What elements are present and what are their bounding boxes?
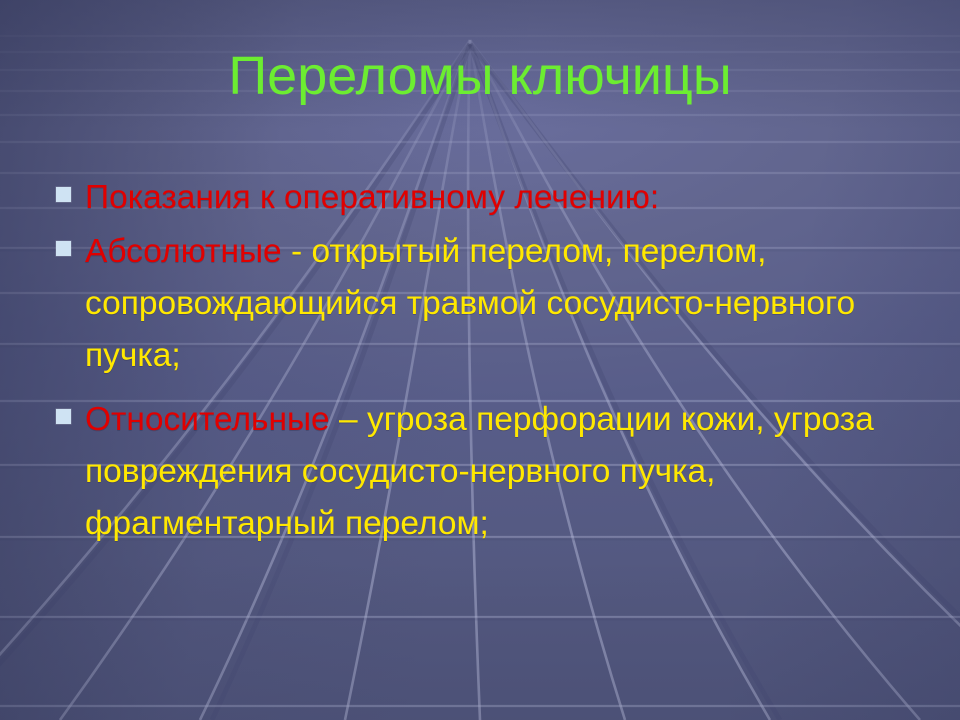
square-bullet-icon — [56, 187, 71, 202]
bullet-item-3-lead: Относительные — [85, 401, 330, 438]
bullet-item-2-text: Абсолютные - открытый перелом, перелом, … — [85, 226, 912, 382]
bullet-item-3-text: Относительные – угроза перфорации кожи, … — [85, 394, 912, 550]
bullet-item-1[interactable]: Показания к оперативному лечению: — [56, 172, 912, 224]
square-bullet-icon — [56, 409, 71, 424]
bullet-item-3[interactable]: Относительные – угроза перфорации кожи, … — [56, 394, 912, 550]
bullet-spacer — [56, 384, 912, 394]
slide-title: Переломы ключицы — [0, 48, 960, 105]
bullet-item-2[interactable]: Абсолютные - открытый перелом, перелом, … — [56, 226, 912, 382]
bullet-item-2-lead: Абсолютные — [85, 233, 282, 270]
bullet-item-1-lead: Показания к оперативному лечению: — [85, 179, 659, 216]
slide-body: Показания к оперативному лечению: Абсолю… — [56, 172, 912, 552]
square-bullet-icon — [56, 241, 71, 256]
presentation-slide: Переломы ключицы Показания к оперативном… — [0, 0, 960, 720]
bullet-item-1-text: Показания к оперативному лечению: — [85, 172, 912, 224]
